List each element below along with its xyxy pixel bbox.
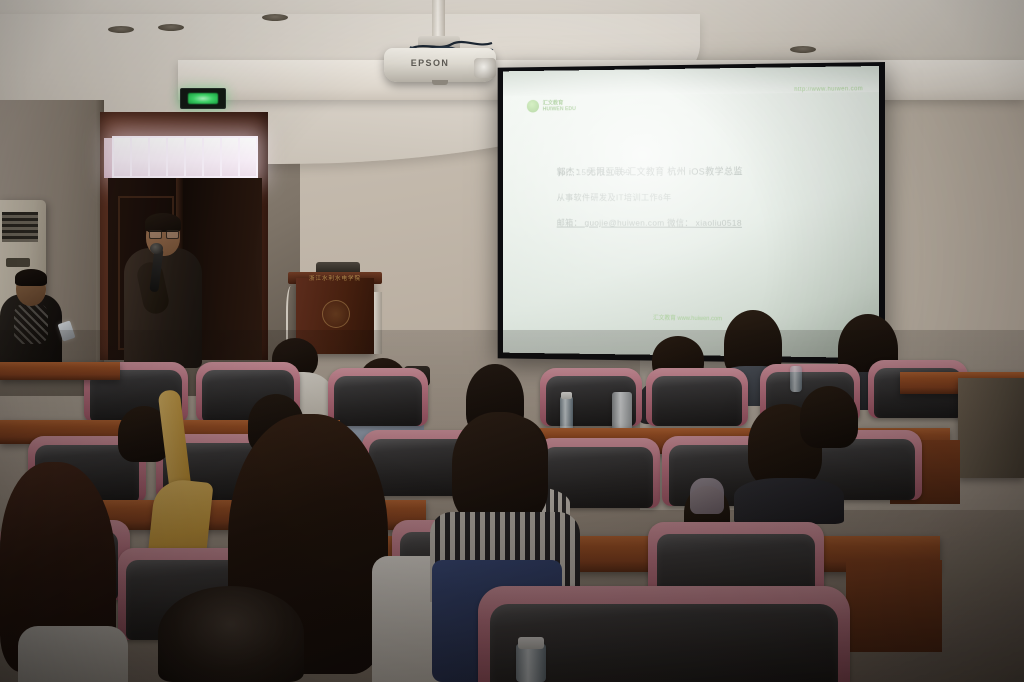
attendee-hair — [15, 269, 47, 286]
desk-side-panel — [846, 560, 942, 652]
podium-stand-leg — [374, 292, 382, 354]
air-conditioner-panel — [6, 258, 30, 267]
screen-light-glow — [503, 66, 879, 358]
audience-torso — [734, 478, 844, 524]
projector-foot — [432, 80, 448, 85]
transom-pane — [222, 138, 238, 176]
transom-pane — [186, 138, 202, 176]
transom-pane — [132, 138, 148, 176]
recessed-downlight — [262, 14, 288, 21]
recessed-downlight — [108, 26, 134, 33]
microphone-head — [150, 243, 163, 254]
water-bottle-cap — [518, 637, 544, 649]
presenter-glasses-bridge — [148, 231, 178, 237]
backpack — [690, 478, 724, 514]
air-conditioner-grille — [2, 212, 38, 242]
projector-brand-label: EPSON — [384, 58, 476, 68]
transom-pane — [114, 138, 130, 176]
water-bottle-cap — [561, 392, 572, 399]
recessed-downlight — [158, 24, 184, 31]
door-transom-window — [112, 136, 258, 178]
transom-pane — [168, 138, 184, 176]
transom-pane — [240, 138, 256, 176]
podium-crest-emblem — [322, 300, 350, 328]
exit-running-man-icon — [188, 93, 218, 104]
podium-inscription: 浙江水利水电学院 — [296, 274, 374, 282]
transom-pane — [204, 138, 220, 176]
attendee-sweater-pattern — [14, 304, 48, 344]
audience-hair — [158, 586, 304, 682]
projector-lens — [474, 58, 496, 78]
transom-pane — [150, 138, 166, 176]
audience-torso — [18, 626, 128, 682]
recessed-downlight — [790, 46, 816, 53]
audience-hair — [800, 386, 858, 448]
emergency-exit-sign — [180, 88, 226, 109]
side-cabinet — [958, 378, 1024, 478]
lecture-hall-photo: EPSON 汇文教育 HUIWEN EDU http: — [0, 0, 1024, 682]
water-bottle — [790, 366, 802, 392]
water-bottle-front — [516, 644, 546, 682]
desk-row — [0, 362, 120, 380]
audience-head — [452, 412, 548, 524]
projection-screen: 汇文教育 HUIWEN EDU http://www.huiwen.com 郭杰… — [503, 66, 879, 358]
